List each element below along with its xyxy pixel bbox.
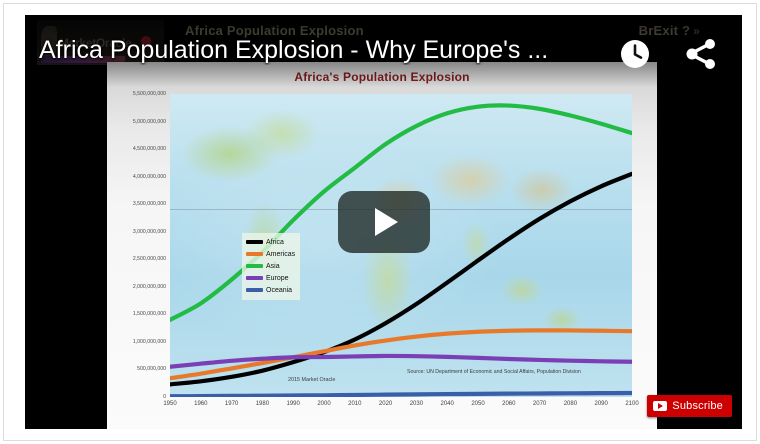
y-tick-label: 1,000,000,000 bbox=[133, 339, 166, 345]
legend-label: Oceania bbox=[266, 287, 292, 294]
y-tick-label: 5,000,000,000 bbox=[133, 119, 166, 125]
x-tick-label: 1960 bbox=[194, 401, 207, 407]
x-tick-label: 1990 bbox=[287, 401, 300, 407]
x-tick-label: 2020 bbox=[379, 401, 392, 407]
y-tick-label: 4,500,000,000 bbox=[133, 146, 166, 152]
legend-label: Asia bbox=[266, 263, 280, 270]
x-tick-label: 2000 bbox=[317, 401, 330, 407]
youtube-embedded-player[interactable]: MarketOracle Africa Population Explosion… bbox=[25, 15, 742, 429]
legend-swatch-icon bbox=[246, 288, 263, 292]
subscribe-label: Subscribe bbox=[672, 400, 723, 412]
x-tick-label: 2070 bbox=[533, 401, 546, 407]
legend-swatch-icon bbox=[246, 240, 263, 244]
legend-item-oceania: Oceania bbox=[246, 284, 295, 296]
x-axis: 1950196019701980199020002010202020302040… bbox=[170, 401, 632, 415]
x-tick-label: 2060 bbox=[502, 401, 515, 407]
legend-item-africa: Africa bbox=[246, 236, 295, 248]
y-axis: 5,500,000,0005,000,000,0004,500,000,0004… bbox=[107, 94, 170, 397]
y-tick-label: 4,000,000,000 bbox=[133, 174, 166, 180]
subscribe-button[interactable]: Subscribe bbox=[647, 395, 732, 417]
y-tick-label: 3,500,000,000 bbox=[133, 201, 166, 207]
x-tick-label: 2030 bbox=[410, 401, 423, 407]
x-tick-label: 2090 bbox=[595, 401, 608, 407]
legend-item-europe: Europe bbox=[246, 272, 295, 284]
y-tick-label: 5,500,000,000 bbox=[133, 91, 166, 97]
source-annotation: Source: UN Department of Economic and So… bbox=[407, 369, 581, 375]
share-icon bbox=[682, 37, 720, 71]
x-tick-label: 2040 bbox=[441, 401, 454, 407]
corner-note-text: BrExit ? bbox=[639, 23, 690, 38]
x-tick-label: 1970 bbox=[225, 401, 238, 407]
legend-label: Americas bbox=[266, 251, 295, 258]
y-tick-label: 500,000,000 bbox=[137, 366, 166, 372]
slide-headline: Africa Population Explosion bbox=[185, 23, 364, 38]
legend-label: Africa bbox=[266, 239, 284, 246]
credit-annotation: 2015 Market Oracle bbox=[288, 377, 335, 383]
series-line-oceania bbox=[170, 393, 632, 396]
watch-later-button[interactable] bbox=[618, 37, 652, 71]
youtube-play-icon bbox=[653, 401, 667, 411]
x-tick-label: 2010 bbox=[348, 401, 361, 407]
legend-item-americas: Americas bbox=[246, 248, 295, 260]
legend-swatch-icon bbox=[246, 252, 263, 256]
y-tick-label: 2,500,000,000 bbox=[133, 256, 166, 262]
y-tick-label: 2,000,000,000 bbox=[133, 284, 166, 290]
chart-title: Africa's Population Explosion bbox=[107, 70, 657, 84]
screenshot-root: MarketOracle Africa Population Explosion… bbox=[0, 0, 760, 444]
y-tick-label: 1,500,000,000 bbox=[133, 311, 166, 317]
x-tick-label: 2100 bbox=[625, 401, 638, 407]
legend-swatch-icon bbox=[246, 264, 263, 268]
play-triangle-icon bbox=[375, 208, 398, 236]
x-tick-label: 2050 bbox=[471, 401, 484, 407]
x-tick-label: 1980 bbox=[256, 401, 269, 407]
x-tick-label: 2080 bbox=[564, 401, 577, 407]
share-button[interactable] bbox=[682, 37, 720, 71]
legend-label: Europe bbox=[266, 275, 289, 282]
slide-corner-note: BrExit ?» bbox=[639, 23, 700, 38]
y-tick-label: 0 bbox=[163, 394, 166, 400]
chart-legend: AfricaAmericasAsiaEuropeOceania bbox=[242, 233, 300, 300]
legend-item-asia: Asia bbox=[246, 260, 295, 272]
x-tick-label: 1950 bbox=[163, 401, 176, 407]
video-title[interactable]: Africa Population Explosion - Why Europe… bbox=[39, 37, 599, 65]
y-tick-label: 3,000,000,000 bbox=[133, 229, 166, 235]
legend-swatch-icon bbox=[246, 276, 263, 280]
double-chevron-icon: » bbox=[693, 24, 700, 38]
clock-icon bbox=[618, 37, 652, 71]
play-button[interactable] bbox=[338, 191, 430, 253]
